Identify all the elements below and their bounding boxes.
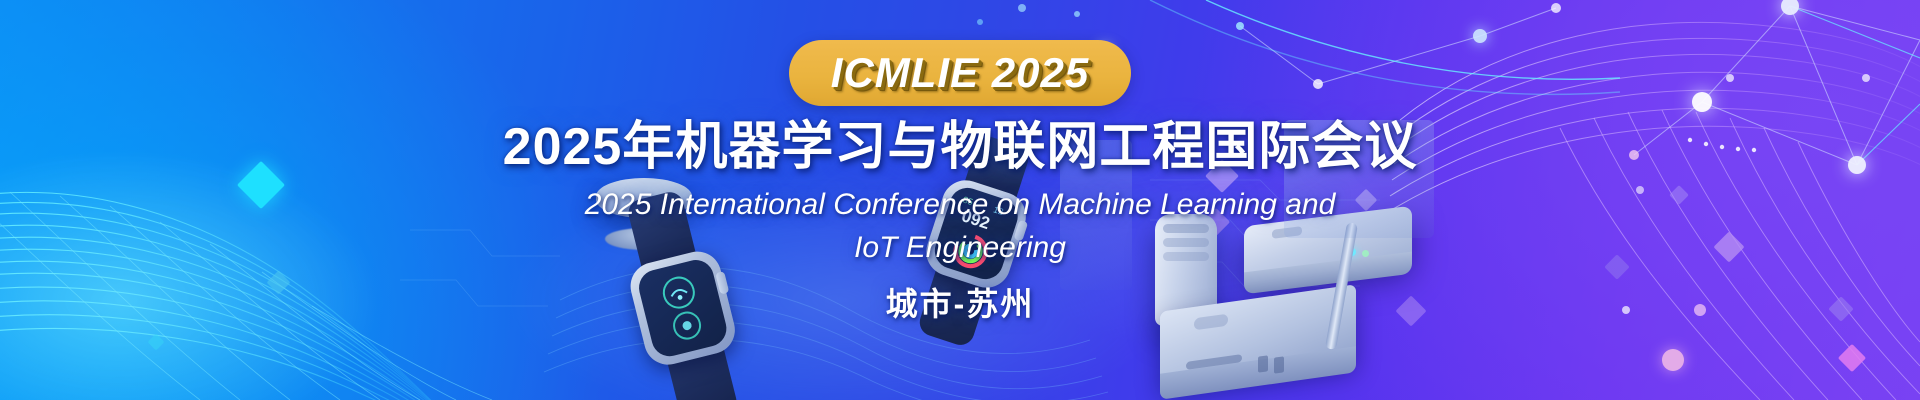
subtitle-line-2: IoT Engineering <box>550 227 1370 270</box>
conference-banner: 85 12 092 <box>0 0 1920 400</box>
conference-acronym-label: ICMLIE 2025 <box>831 52 1089 94</box>
banner-content: ICMLIE 2025 2025年机器学习与物联网工程国际会议 2025 Int… <box>0 0 1920 400</box>
conference-title-chinese: 2025年机器学习与物联网工程国际会议 <box>503 118 1418 176</box>
conference-city-label: 城市-苏州 <box>886 279 1035 325</box>
subtitle-line-1: 2025 International Conference on Machine… <box>550 184 1370 227</box>
conference-subtitle-english: 2025 International Conference on Machine… <box>550 184 1370 269</box>
conference-acronym-badge: ICMLIE 2025 <box>789 40 1131 106</box>
